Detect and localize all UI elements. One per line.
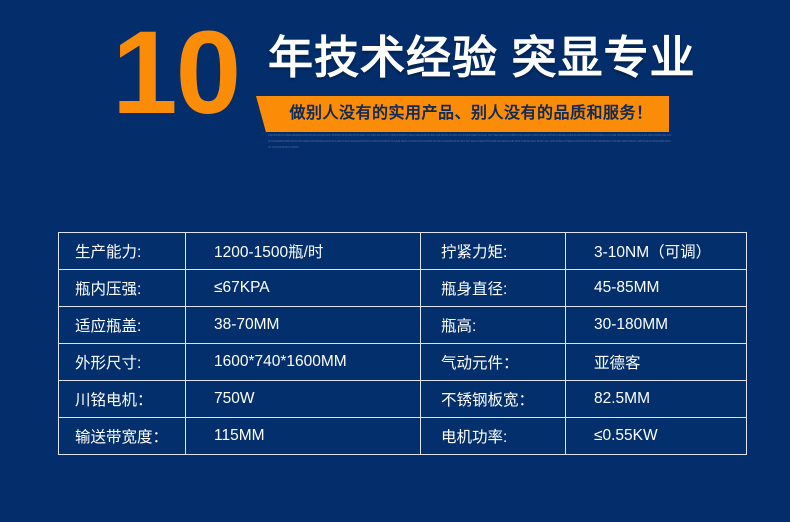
spec-label: 气动元件： [421, 344, 566, 381]
spec-label: 拧紧力矩: [421, 233, 566, 270]
spec-value: 3-10NM（可调） [566, 233, 747, 270]
decorative-microtext: D4I0DD3KOC4I0D34EB4RADB34WHOLD4D14OP.3K0… [268, 133, 672, 153]
spec-label: 瓶内压强: [59, 270, 186, 307]
subtitle-bar: 做别人没有的实用产品、别人没有的品质和服务！ [273, 96, 669, 132]
spec-value: 82.5MM [566, 381, 747, 418]
spec-value: 亚德客 [566, 344, 747, 381]
spec-label: 外形尺寸: [59, 344, 186, 381]
spec-label: 生产能力: [59, 233, 186, 270]
spec-label: 不锈钢板宽： [421, 381, 566, 418]
spec-value: 1200-1500瓶/时 [186, 233, 421, 270]
spec-value: 45-85MM [566, 270, 747, 307]
spec-label: 川铭电机： [59, 381, 186, 418]
table-row: 适应瓶盖:38-70MM瓶高:30-180MM [59, 307, 747, 344]
spec-label: 瓶高: [421, 307, 566, 344]
table-row: 输送带宽度：115MM电机功率:≤0.55KW [59, 418, 747, 455]
spec-value: 1600*740*1600MM [186, 344, 421, 381]
table-row: 川铭电机：750W不锈钢板宽：82.5MM [59, 381, 747, 418]
spec-label: 输送带宽度： [59, 418, 186, 455]
spec-label: 电机功率: [421, 418, 566, 455]
header-banner: 10 年技术经验 突显专业 做别人没有的实用产品、别人没有的品质和服务！ D4I… [0, 0, 790, 160]
spec-value: 30-180MM [566, 307, 747, 344]
subtitle-text: 做别人没有的实用产品、别人没有的品质和服务！ [273, 96, 669, 132]
spec-value: ≤67KPA [186, 270, 421, 307]
specification-table: 生产能力:1200-1500瓶/时拧紧力矩:3-10NM（可调）瓶内压强:≤67… [58, 232, 747, 455]
spec-value: 38-70MM [186, 307, 421, 344]
years-number: 10 [112, 14, 239, 132]
spec-label: 瓶身直径: [421, 270, 566, 307]
table-row: 外形尺寸:1600*740*1600MM气动元件：亚德客 [59, 344, 747, 381]
spec-label: 适应瓶盖: [59, 307, 186, 344]
table-row: 瓶内压强:≤67KPA瓶身直径:45-85MM [59, 270, 747, 307]
spec-value: 115MM [186, 418, 421, 455]
headline-text: 年技术经验 突显专业 [268, 33, 696, 83]
spec-value: ≤0.55KW [566, 418, 747, 455]
subtitle-wedge-shape [256, 96, 274, 132]
table-row: 生产能力:1200-1500瓶/时拧紧力矩:3-10NM（可调） [59, 233, 747, 270]
spec-value: 750W [186, 381, 421, 418]
